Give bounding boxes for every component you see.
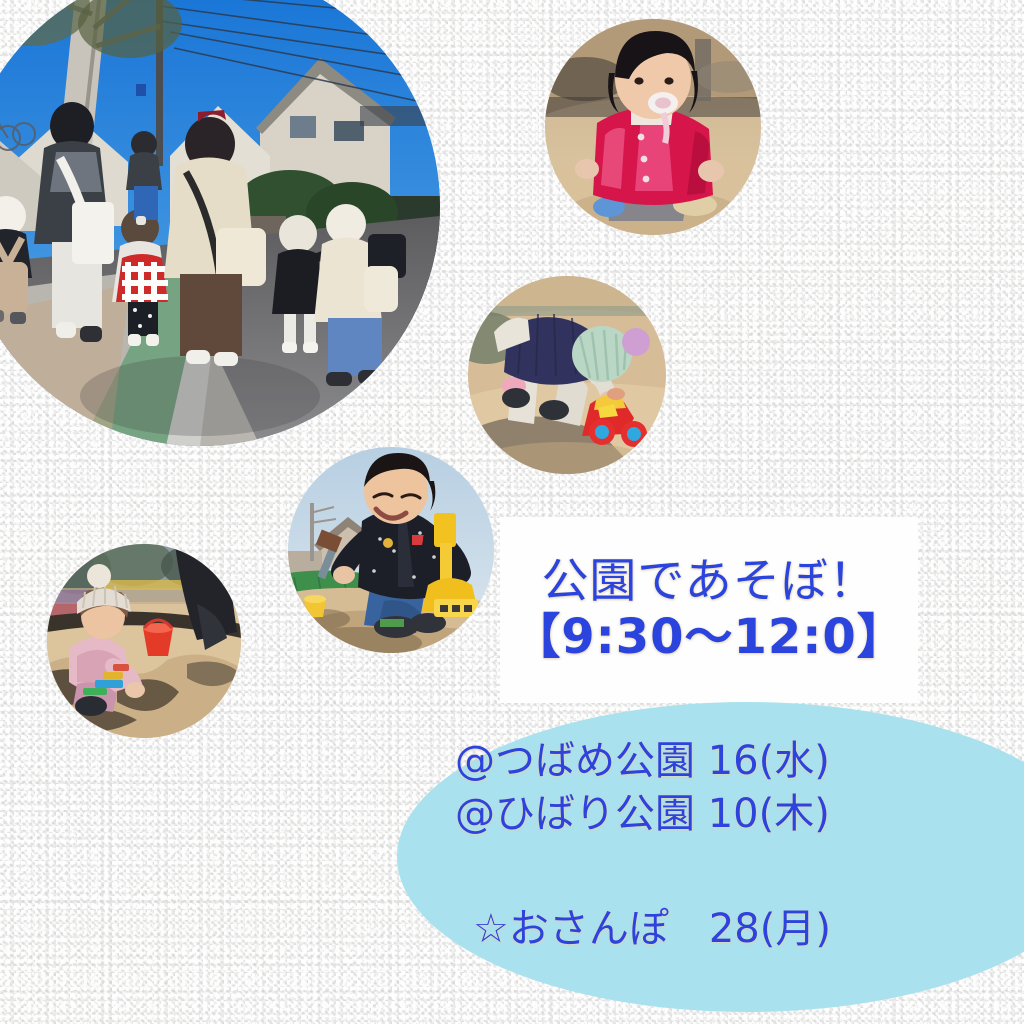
photo-group-walk-street — [0, 0, 440, 446]
schedule-item-hibari: @ひばり公園 10(木) — [455, 788, 1015, 841]
toddler-red-jacket-illustration — [545, 19, 761, 235]
girl-pink-sandbox-illustration — [47, 544, 241, 738]
photo-boy-yellow-shovel — [288, 447, 494, 653]
schedule-text-block: @つばめ公園 16(水) @ひばり公園 10(木) ☆おさんぽ 28(月) — [455, 735, 1015, 955]
photo-toddler-toy-car-sand — [468, 276, 666, 474]
schedule-item-tsubame: @つばめ公園 16(水) — [455, 735, 1015, 788]
boy-yellow-shovel-illustration — [288, 447, 494, 653]
poster-canvas: 公園であそぼ！ 【9:30〜12:0】 @つばめ公園 16(水) @ひばり公園 … — [0, 0, 1024, 1024]
schedule-item-osanpo: ☆おさんぽ 28(月) — [455, 903, 1015, 956]
title-line-main: 公園であそぼ！ — [541, 557, 876, 607]
title-line-time: 【9:30〜12:0】 — [512, 612, 905, 663]
photo-girl-pink-sandbox — [47, 544, 241, 738]
toddler-toy-car-illustration — [468, 276, 666, 474]
title-card: 公園であそぼ！ 【9:30〜12:0】 — [500, 517, 918, 703]
group-walk-illustration — [0, 0, 440, 446]
photo-toddler-red-jacket-sand — [545, 19, 761, 235]
